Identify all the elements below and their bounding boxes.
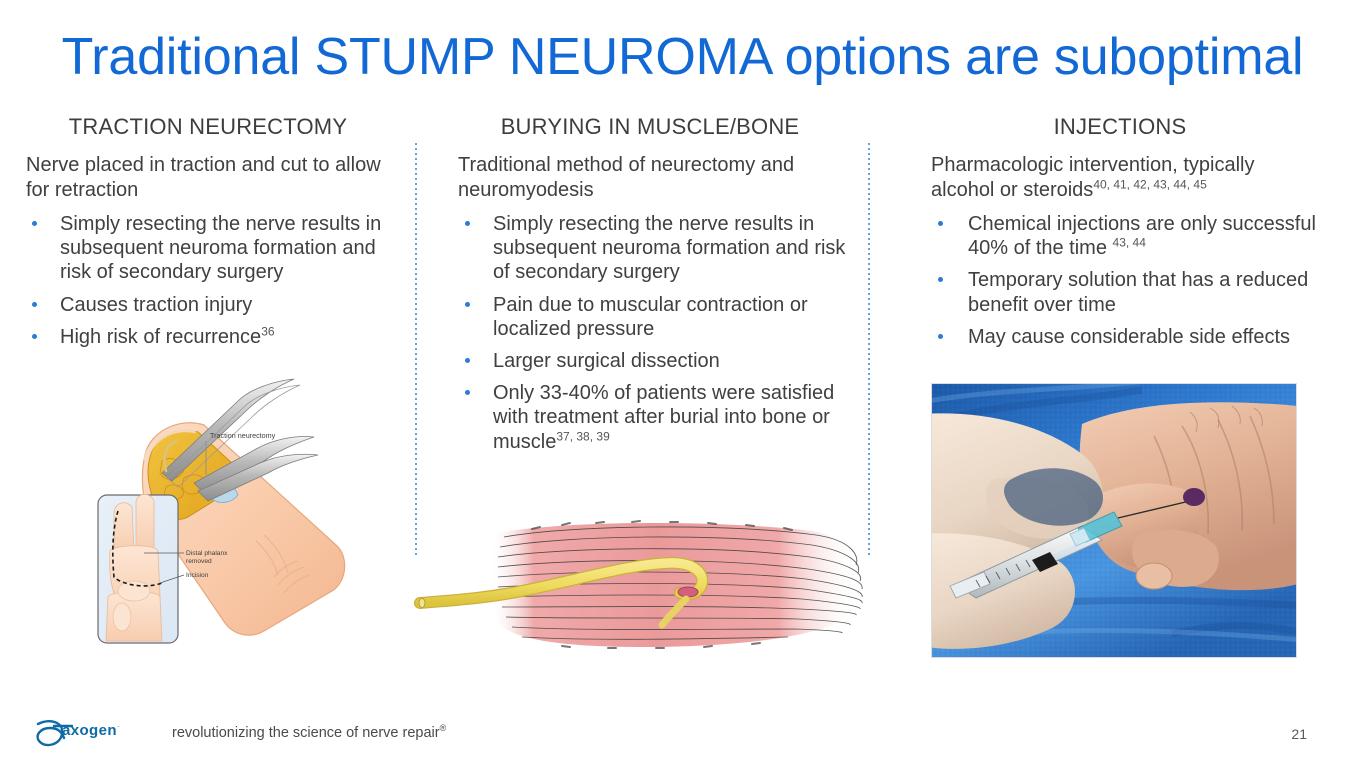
bullet-dot-icon: [938, 334, 943, 339]
brand-registered-mark: ·: [117, 722, 120, 731]
bullet-dot-icon: [465, 302, 470, 307]
bullet-text: May cause considerable side effects: [968, 326, 1290, 348]
list-item: Chemical injections are only successful …: [920, 212, 1320, 260]
bullet-list-3: Chemical injections are only successful …: [920, 212, 1320, 349]
list-item: Pain due to muscular contraction or loca…: [445, 293, 855, 341]
slide: Traditional STUMP NEUROMA options are su…: [0, 0, 1365, 768]
bullet-dot-icon: [465, 390, 470, 395]
list-item: Causes traction injury: [12, 293, 402, 317]
brand-text: axogen: [62, 722, 117, 739]
column-injections: INJECTIONS Pharmacologic intervention, t…: [920, 113, 1320, 357]
bullet-text: Pain due to muscular contraction or loca…: [493, 294, 808, 340]
bullet-text: Simply resecting the nerve results in su…: [60, 213, 381, 283]
bullet-text: Only 33-40% of patients were satisfied w…: [493, 382, 834, 452]
axogen-wordmark: axogen·: [62, 722, 120, 739]
bullet-superscript: 37, 38, 39: [556, 429, 609, 443]
page-title: Traditional STUMP NEUROMA options are su…: [0, 26, 1365, 88]
column-heading-1: TRACTION NEURECTOMY: [12, 113, 402, 141]
incision-label: Incision: [186, 572, 209, 579]
column-lead-3-superscript: 40, 41, 42, 43, 44, 45: [1093, 177, 1206, 191]
bullet-dot-icon: [465, 221, 470, 226]
traction-neurectomy-label: Traction neurectomy: [210, 431, 276, 440]
bullet-list-1: Simply resecting the nerve results in su…: [12, 212, 402, 349]
column-heading-2: BURYING IN MUSCLE/BONE: [445, 113, 855, 141]
distal-phalanx-label-line2: removed: [186, 558, 212, 565]
bullet-superscript: 36: [261, 324, 274, 338]
bullet-dot-icon: [32, 221, 37, 226]
column-divider-2: [868, 143, 870, 556]
tagline-registered-mark: ®: [440, 723, 447, 733]
bullet-dot-icon: [938, 221, 943, 226]
inset-panel: [98, 494, 184, 643]
column-lead-2: Traditional method of neurectomy and neu…: [445, 153, 855, 202]
traction-neurectomy-illustration: Traction neurectomy Distal phalanx: [88, 345, 348, 655]
column-heading-3: INJECTIONS: [920, 113, 1320, 141]
bullet-dot-icon: [938, 277, 943, 282]
list-item: Only 33-40% of patients were satisfied w…: [445, 381, 855, 454]
nerve-cut-end: [419, 598, 425, 607]
list-item: Temporary solution that has a reduced be…: [920, 268, 1320, 316]
bullet-dot-icon: [32, 302, 37, 307]
bullet-text: Causes traction injury: [60, 294, 252, 316]
list-item: Simply resecting the nerve results in su…: [445, 212, 855, 285]
list-item: May cause considerable side effects: [920, 325, 1320, 349]
bullet-text: Temporary solution that has a reduced be…: [968, 269, 1308, 315]
skin-marking-dot: [1183, 488, 1205, 506]
bullet-dot-icon: [32, 334, 37, 339]
bullet-text: Larger surgical dissection: [493, 350, 720, 372]
fingernail-1: [1136, 563, 1172, 589]
footer-tagline: revolutionizing the science of nerve rep…: [172, 723, 446, 741]
list-item: Simply resecting the nerve results in su…: [12, 212, 402, 285]
page-number: 21: [1291, 726, 1307, 742]
column-burying-in-muscle-bone: BURYING IN MUSCLE/BONE Traditional metho…: [445, 113, 855, 462]
column-lead-3: Pharmacologic intervention, typically al…: [920, 153, 1320, 202]
list-item: Larger surgical dissection: [445, 349, 855, 373]
column-divider-1: [415, 143, 417, 556]
column-traction-neurectomy: TRACTION NEURECTOMY Nerve placed in trac…: [12, 113, 402, 357]
bullet-list-2: Simply resecting the nerve results in su…: [445, 212, 855, 454]
tagline-text: revolutionizing the science of nerve rep…: [172, 725, 440, 741]
bullet-dot-icon: [465, 358, 470, 363]
muscle-burial-illustration: [412, 515, 872, 655]
injection-clinical-photo: [931, 383, 1297, 658]
nerve-entry-point: [678, 587, 698, 597]
bullet-superscript: 43, 44: [1113, 236, 1146, 250]
column-lead-1: Nerve placed in traction and cut to allo…: [12, 153, 402, 202]
distal-phalanx-label-line1: Distal phalanx: [186, 550, 228, 557]
bullet-text: Simply resecting the nerve results in su…: [493, 213, 845, 283]
